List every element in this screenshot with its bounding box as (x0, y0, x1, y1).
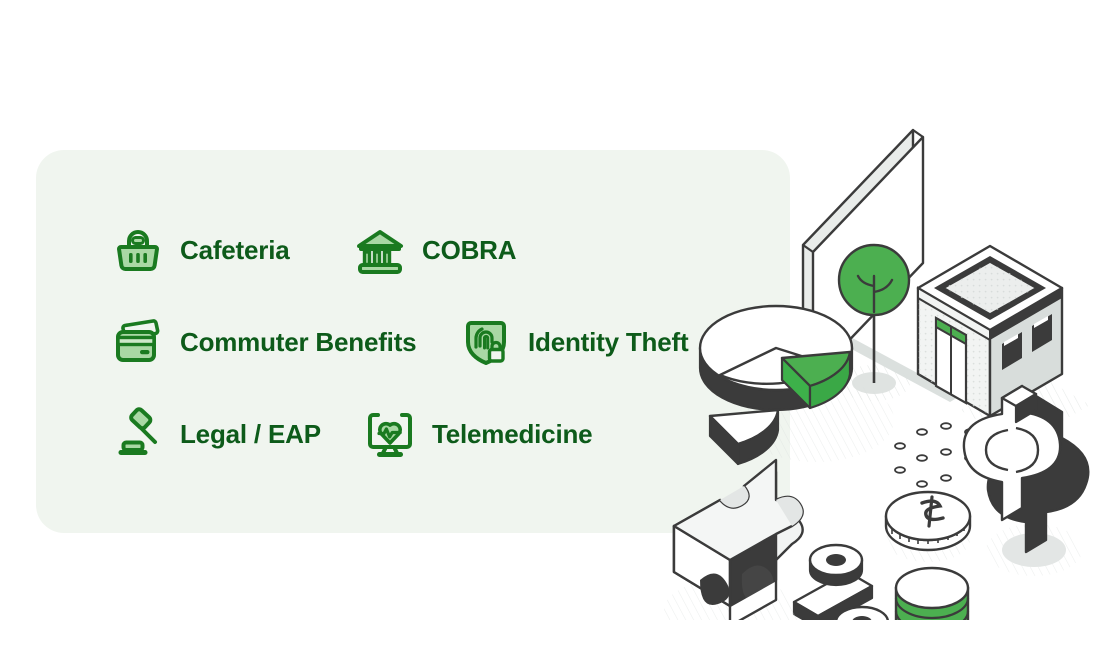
benefit-item-telemedicine[interactable]: Telemedicine (362, 401, 592, 467)
gavel-icon (110, 406, 166, 462)
screenshot-stage: Cafeteria COBRA (0, 0, 1100, 660)
bank-building-icon (352, 222, 408, 278)
shield-fingerprint-icon (458, 314, 514, 370)
benefit-item-commuter-benefits[interactable]: Commuter Benefits (110, 309, 416, 375)
benefit-item-cafeteria[interactable]: Cafeteria (110, 217, 289, 283)
monitor-heartbeat-icon (362, 406, 418, 462)
percent-symbol (782, 545, 894, 620)
coin (886, 492, 970, 562)
shopping-basket-icon (110, 222, 166, 278)
benefit-label-telemedicine: Telemedicine (432, 421, 592, 447)
credit-cards-icon (110, 314, 166, 370)
isometric-illustration (660, 80, 1100, 620)
dot-ring-decoration (895, 423, 975, 487)
benefit-item-cobra[interactable]: COBRA (352, 217, 516, 283)
coin-stack (892, 568, 972, 620)
benefit-label-cafeteria: Cafeteria (180, 237, 289, 263)
benefit-item-identity-theft[interactable]: Identity Theft (458, 309, 688, 375)
benefit-label-commuter-benefits: Commuter Benefits (180, 329, 416, 355)
benefit-item-legal-eap[interactable]: Legal / EAP (110, 401, 321, 467)
puzzle-piece (664, 460, 803, 620)
benefit-label-cobra: COBRA (422, 237, 516, 263)
benefit-label-legal-eap: Legal / EAP (180, 421, 321, 447)
